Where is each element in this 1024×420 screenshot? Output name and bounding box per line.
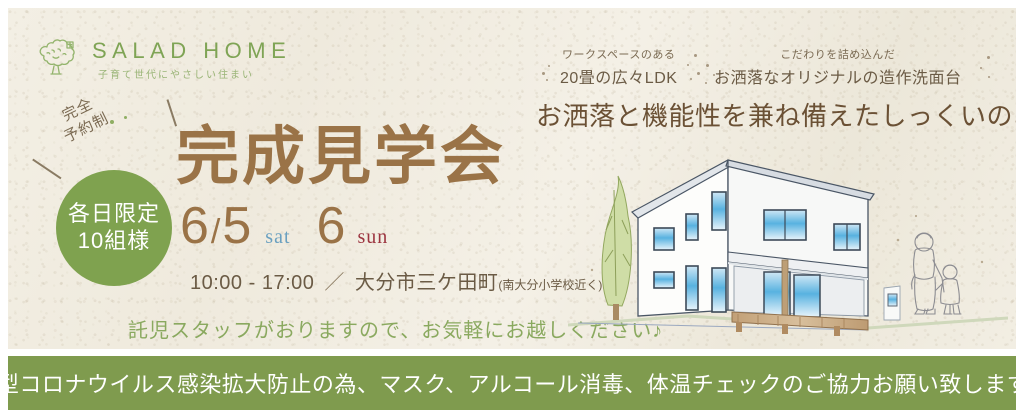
event-time-place: 10:00 - 17:00／大分市三ケ田町(南大分小学校近く) [190,266,602,295]
feature-2-title: お洒落なオリジナルの造作洗面台 [714,64,962,88]
covid-notice-text: 新型コロナウイルス感染拡大防止の為、マスク、アルコール消毒、体温チェックのご協力… [0,367,1024,399]
event-dates: 6/5sat6sun [180,200,388,258]
brand-logo[interactable]: SALAD HOME 子育て世代にやさしい住まい [30,34,280,86]
sparkle-icon [704,60,730,86]
covid-notice-banner: 新型コロナウイルス感染拡大防止の為、マスク、アルコール消毒、体温チェックのご協力… [8,356,1016,410]
feature-2-subtitle: こだわりを詰め込んだ [714,46,962,62]
event-day-2-weekday: sun [345,226,388,248]
feature-1-title: 20畳の広々LDK [560,64,677,88]
page-title: 完成見学会 [176,126,506,189]
event-day-2: 6 [317,197,346,255]
event-time: 10:00 - 17:00 [190,272,314,294]
event-place: 大分市三ケ田町 [355,272,499,294]
feature-callout-1: ワークスペースのある 20畳の広々LDK [560,46,677,88]
decor-dot-b [124,116,127,119]
paper-background: SALAD HOME 子育て世代にやさしい住まい 完全 予約制 各日限定 10組… [8,8,1016,349]
brand-tagline: 子育て世代にやさしい住まい [98,66,254,81]
date-slash: / [209,213,222,251]
event-month: 6 [180,197,209,255]
info-separator: ／ [314,272,355,294]
mother-and-child-sketch [912,233,961,314]
feature-callout-2: こだわりを詰め込んだ お洒落なオリジナルの造作洗面台 [714,46,962,88]
reservation-badge: 完全 予約制 [52,91,113,148]
event-day-1-weekday: sat [251,226,290,248]
house-illustration [568,120,1008,345]
sparkle-icon [976,54,1002,80]
daily-limit-line-2: 10組様 [78,228,150,255]
daily-limit-badge: 各日限定 10組様 [56,170,172,286]
feature-1-subtitle: ワークスペースのある [560,46,677,62]
daily-limit-line-1: 各日限定 [68,201,160,228]
event-banner: SALAD HOME 子育て世代にやさしい住まい 完全 予約制 各日限定 10組… [0,0,1024,420]
tree-sketch-icon [30,36,84,84]
event-day-1: 5 [222,197,251,255]
brand-name: SALAD HOME [92,38,291,64]
sparkle-icon [540,60,566,86]
tree-sketch [602,176,631,320]
decor-dot-a [110,120,114,124]
decor-line-left [32,159,61,179]
